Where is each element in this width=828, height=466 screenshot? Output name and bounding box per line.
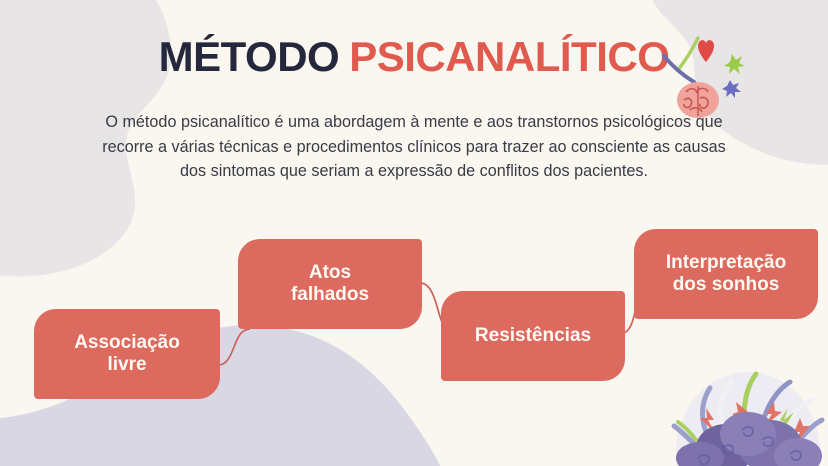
flow-node-interpretacao-dos-sonhos[interactable]: Interpretação dos sonhos [634, 229, 818, 319]
purple-sparkle-icon [722, 80, 741, 98]
body-paragraph: O método psicanalítico é uma abordagem à… [88, 110, 740, 184]
connector-0-1 [218, 329, 250, 365]
flow-node-resistencias[interactable]: Resistências [441, 291, 625, 381]
brain-doodle [662, 30, 772, 120]
title-word-metodo: MÉTODO [159, 36, 340, 78]
flow-node-label-line1: Resistências [475, 325, 591, 347]
flow-node-label-line2: livre [74, 354, 180, 376]
green-swoosh-icon [678, 38, 698, 70]
flow-node-label-line2: dos sonhos [666, 274, 786, 296]
heart-icon [698, 40, 714, 62]
flow-node-label-line1: Associação [74, 332, 180, 354]
flow-node-label-line1: Atos [291, 262, 369, 284]
title-word-psicanalitico: PSICANALÍTICO [349, 36, 669, 78]
slide-canvas: MÉTODOPSICANALÍTICO O método psicanalíti… [0, 0, 828, 466]
flow-node-atos-falhados[interactable]: Atos falhados [238, 239, 422, 329]
navy-swoosh-icon [664, 56, 694, 82]
green-sparkle-icon [724, 54, 745, 74]
purple-cloud-burst-doodle [666, 362, 828, 466]
flow-node-label-line1: Interpretação [666, 252, 786, 274]
flow-node-associacao-livre[interactable]: Associação livre [34, 309, 220, 399]
flow-node-label-line2: falhados [291, 284, 369, 306]
